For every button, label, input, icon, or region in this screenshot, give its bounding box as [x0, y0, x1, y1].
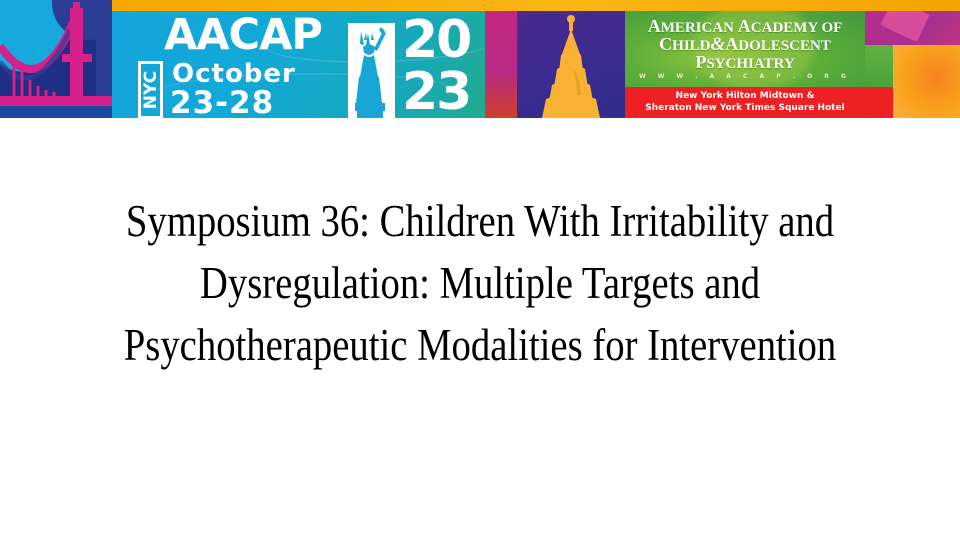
page-title: Symposium 36: Children With Irritability… — [67, 190, 893, 376]
org-website: W W W . A A C A P . O R G — [625, 73, 865, 80]
bridge-crossbar — [62, 54, 92, 62]
year-digits-bottom: 23 — [402, 62, 470, 118]
nyc-label: NYC — [141, 71, 161, 109]
conference-month: October — [172, 60, 296, 88]
title-area: Symposium 36: Children With Irritability… — [0, 190, 960, 376]
aacap-title-panel: AACAP NYC October 23-28 — [112, 11, 485, 118]
bridge-deck-lower — [0, 106, 112, 118]
presentation-slide: AACAP NYC October 23-28 — [0, 0, 960, 540]
statue-of-liberty-icon — [348, 23, 395, 118]
bridge-tower-spire — [73, 2, 80, 14]
right-red-block — [865, 87, 893, 118]
bridge-deck — [0, 96, 112, 106]
org-name-line-3: PSYCHIATRY — [625, 52, 865, 73]
right-orange-block — [893, 45, 960, 118]
bridge-panel — [0, 0, 112, 118]
statue-of-liberty-panel — [348, 23, 395, 118]
conference-year: 20 23 — [402, 14, 470, 118]
empire-state-building-icon — [523, 11, 619, 118]
magenta-divider-panel — [485, 11, 517, 118]
banner-top-strip — [110, 0, 960, 11]
skyline-tower-panel — [517, 11, 625, 118]
right-magenta-block — [865, 11, 960, 45]
venue-line-1: New York Hilton Midtown & — [625, 91, 865, 101]
aacap-acronym: AACAP — [164, 13, 322, 57]
nyc-badge: NYC — [138, 61, 163, 118]
aacap-logo-panel: AMERICAN ACADEMY OF CHILD&ADOLESCENT PSY… — [625, 11, 865, 87]
venue-line-2: Sheraton New York Times Square Hotel — [625, 103, 865, 113]
conference-banner: AACAP NYC October 23-28 — [0, 0, 960, 118]
conference-dates: 23-28 — [170, 87, 274, 118]
venue-panel: New York Hilton Midtown & Sheraton New Y… — [625, 87, 865, 118]
